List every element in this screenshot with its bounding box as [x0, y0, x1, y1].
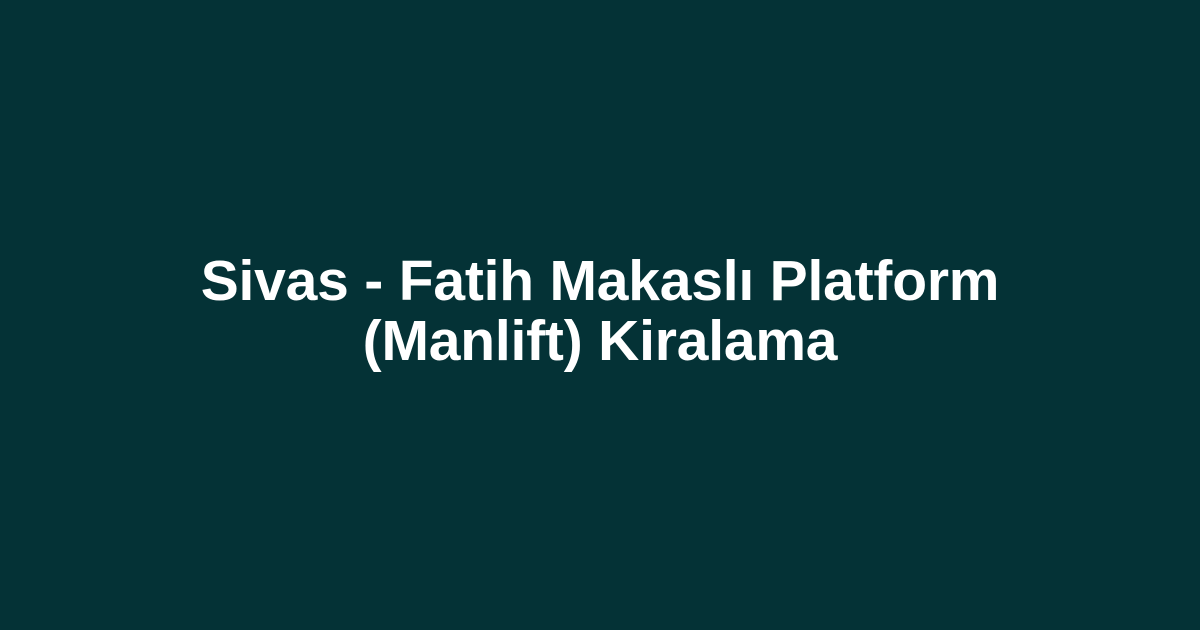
page-title: Sivas - Fatih Makaslı Platform (Manlift)…: [170, 251, 1030, 371]
og-card: Sivas - Fatih Makaslı Platform (Manlift)…: [0, 0, 1200, 630]
title-block: Sivas - Fatih Makaslı Platform (Manlift)…: [170, 251, 1030, 371]
